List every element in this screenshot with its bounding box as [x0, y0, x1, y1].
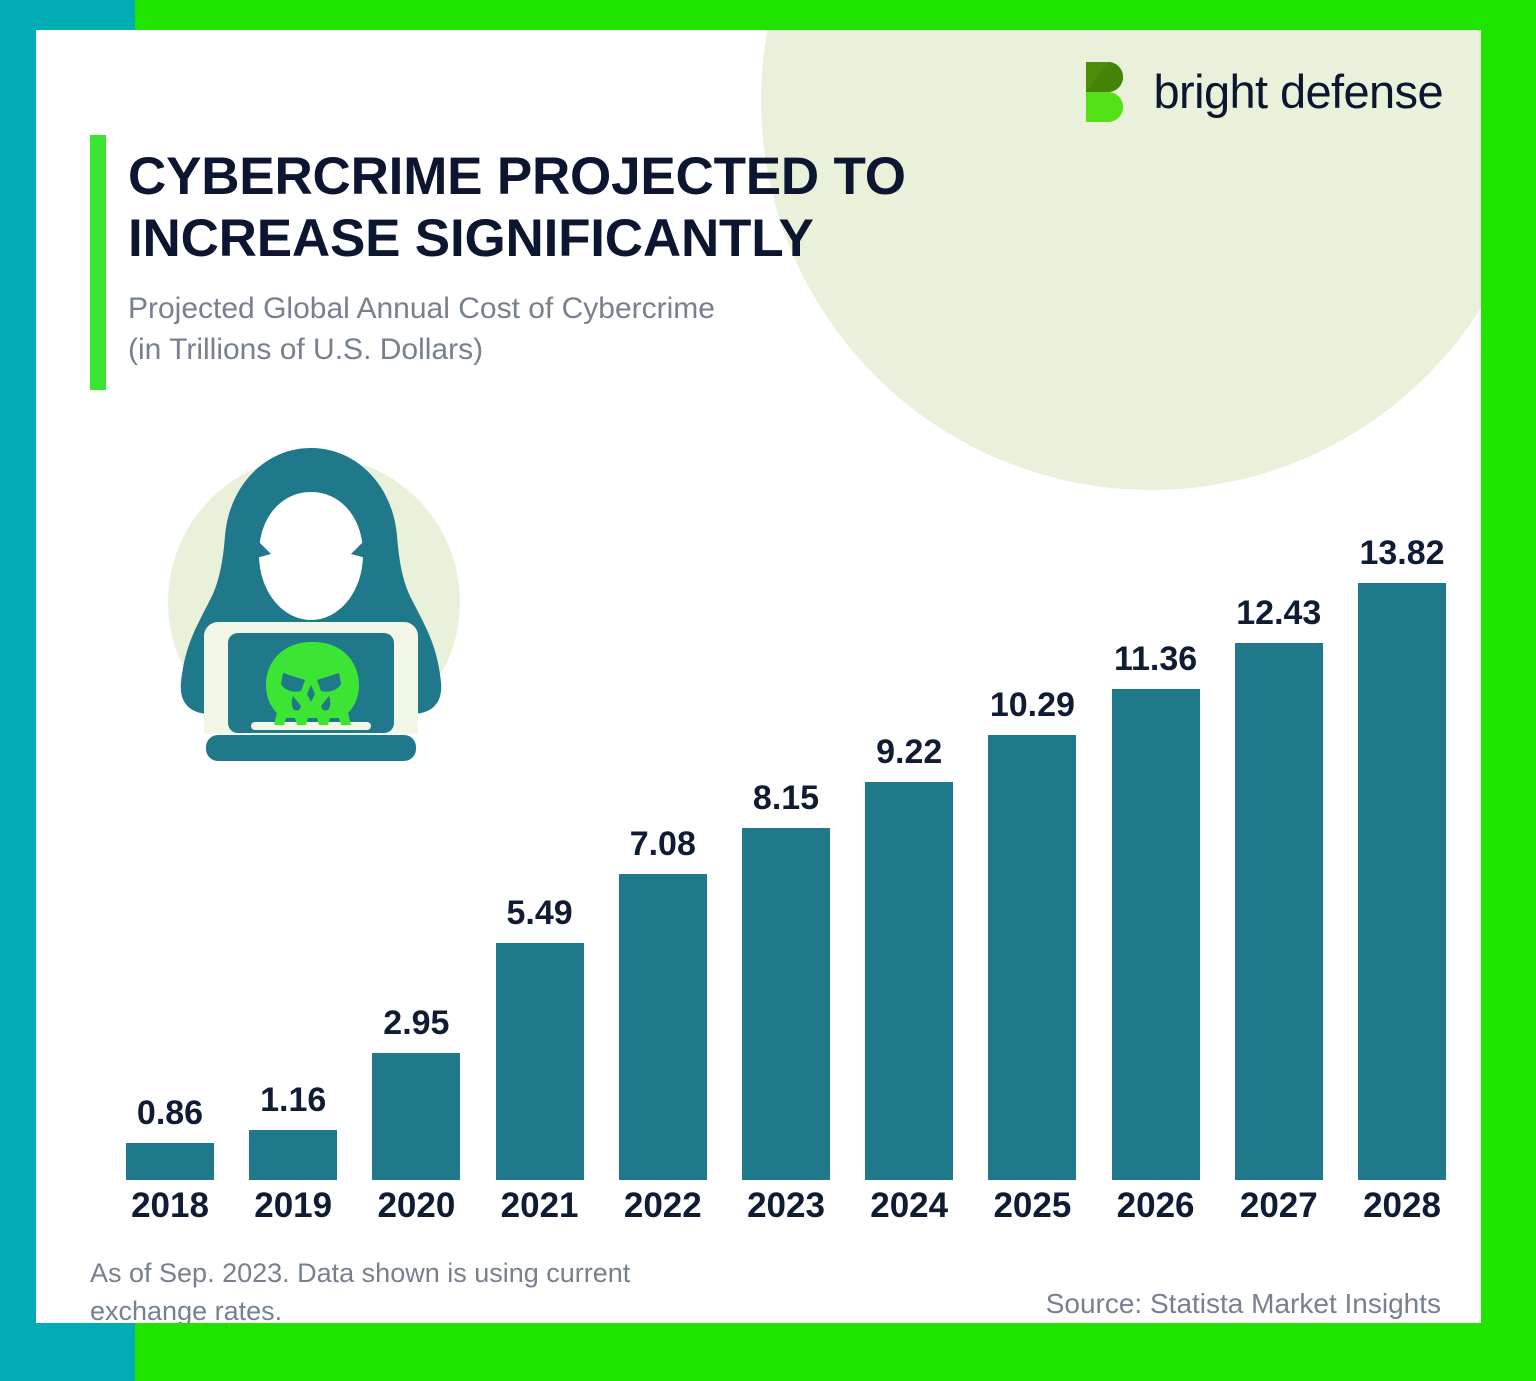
x-axis-tick-label: 2026 — [1086, 1186, 1226, 1226]
x-axis-tick-label: 2024 — [839, 1186, 979, 1226]
bar[interactable] — [126, 1143, 214, 1180]
bar-slot: 2.95 — [372, 460, 460, 1180]
chart-footnote-line-1: As of Sep. 2023. Data shown is using cur… — [90, 1255, 790, 1293]
bright-defense-b-mark-icon — [1084, 60, 1136, 122]
x-axis-tick-label: 2020 — [346, 1186, 486, 1226]
page-subtitle: Projected Global Annual Cost of Cybercri… — [128, 288, 1008, 370]
page-title: CYBERCRIME PROJECTED TO INCREASE SIGNIFI… — [128, 146, 1048, 270]
chart-footnote-line-2: exchange rates. — [90, 1293, 790, 1323]
x-axis-tick-label: 2028 — [1332, 1186, 1472, 1226]
bar-slot: 0.86 — [126, 460, 214, 1180]
bar-slot: 5.49 — [496, 460, 584, 1180]
frame-right-green-band — [1481, 0, 1536, 1381]
x-axis-tick-label: 2027 — [1209, 1186, 1349, 1226]
bar-value-label: 12.43 — [1209, 594, 1349, 633]
x-axis-tick-label: 2025 — [962, 1186, 1102, 1226]
frame-top-green-band — [0, 0, 1536, 30]
bar-value-label: 7.08 — [593, 825, 733, 864]
x-axis-tick-label: 2018 — [100, 1186, 240, 1226]
chart-footnote: As of Sep. 2023. Data shown is using cur… — [90, 1255, 790, 1323]
bar-chart-plot-area: 0.861.162.955.497.088.159.2210.2911.3612… — [126, 460, 1446, 1180]
bar[interactable] — [1235, 643, 1323, 1180]
bar-chart-x-axis: 2018201920202021202220232024202520262027… — [126, 1186, 1446, 1242]
infographic-canvas: bright defense CYBERCRIME PROJECTED TO I… — [0, 0, 1536, 1381]
bar-value-label: 11.36 — [1086, 640, 1226, 679]
bar-slot: 12.43 — [1235, 460, 1323, 1180]
bar[interactable] — [1112, 689, 1200, 1180]
x-axis-tick-label: 2023 — [716, 1186, 856, 1226]
bar[interactable] — [372, 1053, 460, 1180]
bar-slot: 11.36 — [1112, 460, 1200, 1180]
x-axis-tick-label: 2021 — [470, 1186, 610, 1226]
bar-slot: 7.08 — [619, 460, 707, 1180]
bar-value-label: 10.29 — [962, 686, 1102, 725]
page-subtitle-line-1: Projected Global Annual Cost of Cybercri… — [128, 288, 1008, 329]
bar-value-label: 8.15 — [716, 779, 856, 818]
bar-value-label: 2.95 — [346, 1004, 486, 1043]
content-area: bright defense CYBERCRIME PROJECTED TO I… — [36, 30, 1481, 1323]
frame-bottom-green-band — [0, 1323, 1536, 1381]
brand-logo-text: bright defense — [1154, 64, 1443, 119]
bar[interactable] — [496, 943, 584, 1180]
title-accent-bar — [90, 135, 106, 390]
bar-slot: 8.15 — [742, 460, 830, 1180]
bar-value-label: 5.49 — [470, 894, 610, 933]
bar[interactable] — [742, 828, 830, 1180]
brand-logo[interactable]: bright defense — [1084, 60, 1443, 122]
bar-slot: 9.22 — [865, 460, 953, 1180]
chart-source: Source: Statista Market Insights — [1046, 1288, 1441, 1320]
bar-chart: 0.861.162.955.497.088.159.2210.2911.3612… — [126, 460, 1446, 1250]
bar[interactable] — [988, 735, 1076, 1180]
bar-slot: 1.16 — [249, 460, 337, 1180]
bar[interactable] — [249, 1130, 337, 1180]
bar-value-label: 9.22 — [839, 733, 979, 772]
x-axis-tick-label: 2022 — [593, 1186, 733, 1226]
bar-value-label: 1.16 — [223, 1081, 363, 1120]
page-subtitle-line-2: (in Trillions of U.S. Dollars) — [128, 329, 1008, 370]
bar-value-label: 13.82 — [1332, 534, 1472, 573]
bar[interactable] — [865, 782, 953, 1180]
x-axis-tick-label: 2019 — [223, 1186, 363, 1226]
bar-value-label: 0.86 — [100, 1094, 240, 1133]
bar[interactable] — [619, 874, 707, 1180]
frame-left-teal-band — [0, 0, 36, 1381]
bar-slot: 13.82 — [1358, 460, 1446, 1180]
bar[interactable] — [1358, 583, 1446, 1180]
bar-slot: 10.29 — [988, 460, 1076, 1180]
